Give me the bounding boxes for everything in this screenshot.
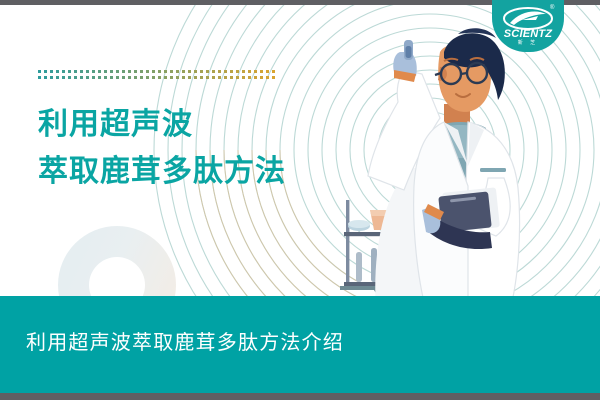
grid-dot [188,70,191,73]
grid-dot [194,76,197,79]
grid-dot [236,76,239,79]
grid-dot [128,76,131,79]
headline-line-2: 萃取鹿茸多肽方法 [38,148,286,195]
grid-dot [194,70,197,73]
grid-dot [62,70,65,73]
grid-dot [98,70,101,73]
grid-dot [122,76,125,79]
grid-dot [206,70,209,73]
grid-dot [188,76,191,79]
grid-dot [158,76,161,79]
grid-dot [230,76,233,79]
grid-dot [122,70,125,73]
grid-dot [146,70,149,73]
grid-dot [260,70,263,73]
grid-dot [92,70,95,73]
grid-dot [230,70,233,73]
grid-dot [104,70,107,73]
grid-dot [86,76,89,79]
grid-dot [56,76,59,79]
grid-dot [98,76,101,79]
grid-dot [158,70,161,73]
grid-dot [248,76,251,79]
scientz-swoosh-emblem [502,7,554,30]
grid-dot [218,70,221,73]
grid-dot [110,76,113,79]
grid-dot [104,76,107,79]
grid-dot [110,70,113,73]
dot-grid-row [38,70,275,73]
bottom-chrome-bar [0,393,600,400]
grid-dot [92,76,95,79]
grid-dot [56,70,59,73]
grid-dot [224,76,227,79]
grid-dot [218,76,221,79]
grid-dot [38,76,41,79]
grid-dot [182,76,185,79]
grid-dot [74,70,77,73]
grid-dot [200,70,203,73]
dot-grid-decoration [38,70,275,79]
grid-dot [50,76,53,79]
grid-dot [272,70,275,73]
grid-dot [266,76,269,79]
grid-dot [128,70,131,73]
grid-dot [224,70,227,73]
page-title: 利用超声波 萃取鹿茸多肽方法 [38,101,286,195]
grid-dot [170,76,173,79]
scientist-illustration [318,18,568,318]
grid-dot [152,70,155,73]
grid-dot [176,76,179,79]
grid-dot [68,76,71,79]
grid-dot [140,70,143,73]
logo-cn-mark: 新 芝 [492,39,564,46]
grid-dot [266,70,269,73]
grid-dot [200,76,203,79]
grid-dot [38,70,41,73]
grid-dot [272,76,275,79]
registered-mark: ® [550,5,554,11]
dot-grid-row [38,76,275,79]
grid-dot [86,70,89,73]
grid-dot [242,76,245,79]
banner-caption: 利用超声波萃取鹿茸多肽方法介绍 [26,326,344,355]
grid-dot [80,76,83,79]
grid-dot [254,76,257,79]
grid-dot [116,76,119,79]
grid-dot [212,70,215,73]
grid-dot [176,70,179,73]
grid-dot [146,76,149,79]
grid-dot [236,70,239,73]
grid-dot [140,76,143,79]
grid-dot [152,76,155,79]
grid-dot [254,70,257,73]
poster-canvas: 利用超声波 萃取鹿茸多肽方法 [0,0,600,400]
grid-dot [164,70,167,73]
grid-dot [134,70,137,73]
grid-dot [116,70,119,73]
grid-dot [68,70,71,73]
grid-dot [212,76,215,79]
grid-dot [80,70,83,73]
grid-dot [74,76,77,79]
grid-dot [44,70,47,73]
grid-dot [206,76,209,79]
grid-dot [44,76,47,79]
grid-dot [182,70,185,73]
grid-dot [50,70,53,73]
bottom-banner: 利用超声波萃取鹿茸多肽方法介绍 [0,296,600,393]
grid-dot [248,70,251,73]
grid-dot [260,76,263,79]
grid-dot [164,76,167,79]
grid-dot [134,76,137,79]
scientz-logo-badge[interactable]: ® SCIENTZ 新 芝 [492,0,564,52]
grid-dot [242,70,245,73]
grid-dot [62,76,65,79]
grid-dot [170,70,173,73]
headline-line-1: 利用超声波 [38,101,286,148]
